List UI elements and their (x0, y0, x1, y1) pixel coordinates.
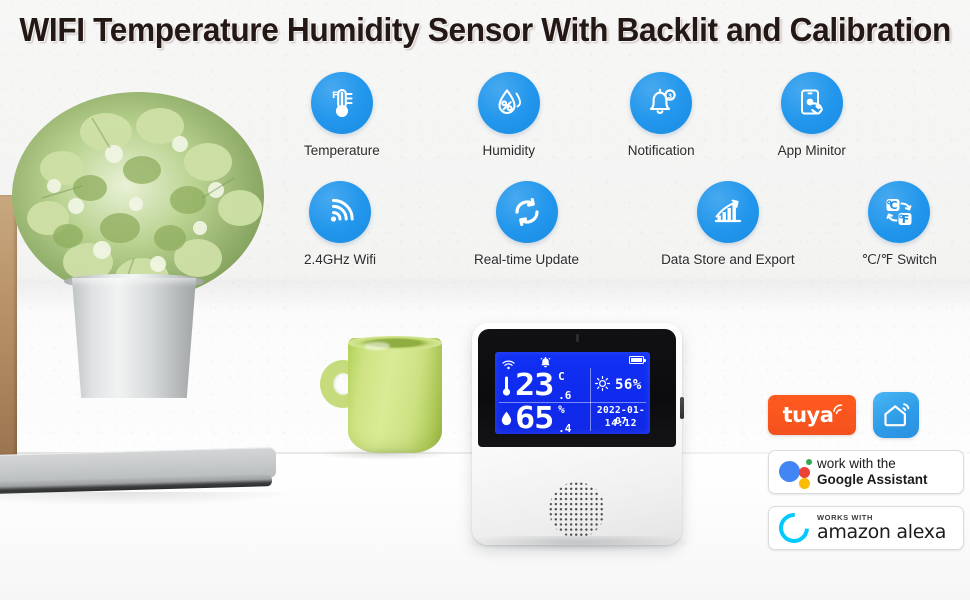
amazon-alexa-badge[interactable]: WORKS WITH amazon alexa (768, 506, 964, 550)
bar-chart-growth-icon (697, 181, 759, 243)
lcd-temperature-cell: 23 C .6 (499, 369, 589, 402)
alexa-badge-line1: WORKS WITH (817, 514, 946, 522)
lcd-time: 14:12 (593, 418, 649, 429)
potted-green-plant (2, 78, 292, 468)
lcd-light-cell: 56% (595, 370, 647, 400)
lcd-humidity-unit-stack: % .4 (558, 404, 571, 434)
mug-body (348, 338, 442, 453)
mug-shadow (318, 448, 450, 460)
refresh-sync-icon (496, 181, 558, 243)
feature-label: ℃/℉ Switch (862, 252, 937, 268)
feature-label: Real-time Update (474, 252, 579, 267)
alexa-text: WORKS WITH amazon alexa (817, 514, 946, 543)
humidity-droplet-icon (478, 72, 540, 134)
feature-row-1: F Temperature Humidity (278, 72, 938, 158)
battery-icon (629, 356, 644, 364)
feature-temperature[interactable]: F Temperature (304, 72, 380, 158)
svg-text:F: F (902, 213, 910, 226)
feature-data-store-export[interactable]: Data Store and Export (661, 181, 795, 267)
lcd-humidity-value: 65 (515, 404, 553, 434)
badge-row-platform: tuya (768, 392, 964, 438)
svg-text:3: 3 (668, 92, 672, 100)
feature-label: App Minitor (778, 143, 846, 158)
thermometer-small-icon (499, 375, 513, 397)
svg-text:F: F (332, 91, 338, 101)
google-dot-green (806, 459, 812, 465)
feature-wifi[interactable]: 2.4GHz Wifi (304, 181, 376, 267)
sun-brightness-icon (595, 376, 610, 395)
lcd-display: 23 C .6 65 % .4 56% 2022-01-07 14:12 (495, 352, 650, 434)
lcd-temperature-value: 23 (515, 371, 553, 401)
feature-humidity[interactable]: Humidity (478, 72, 540, 158)
tuya-wifi-icon (832, 403, 845, 421)
plant-pot (68, 278, 200, 398)
google-dot-yellow (799, 478, 810, 489)
droplet-small-icon (499, 411, 513, 426)
notification-bell-icon: 3 (630, 72, 692, 134)
feature-row-2: 2.4GHz Wifi Real-time Update (278, 181, 938, 268)
google-dot-blue (779, 461, 800, 482)
lcd-temperature-unit-stack: C .6 (558, 371, 571, 401)
mug-highlight (364, 342, 390, 350)
laptop-shadow (0, 492, 300, 506)
mug-rim (348, 336, 442, 350)
google-dot-red (799, 467, 810, 478)
google-badge-line1: work with the (817, 456, 896, 471)
device-side-button[interactable] (680, 397, 684, 419)
app-phone-touch-icon (781, 72, 843, 134)
feature-cf-switch[interactable]: C F ℃/℉ Switch (862, 181, 937, 268)
celsius-fahrenheit-switch-icon: C F (868, 181, 930, 243)
lcd-temperature-unit: C (558, 371, 571, 382)
device-shadow (462, 536, 694, 552)
feature-label: Notification (628, 143, 695, 158)
feature-label: Temperature (304, 143, 380, 158)
feature-label: Data Store and Export (661, 252, 795, 267)
lcd-humidity-cell: 65 % .4 (499, 403, 589, 434)
page-title: WIFI Temperature Humidity Sensor With Ba… (19, 11, 950, 49)
brand-badges: tuya work with the Google As (768, 392, 964, 550)
google-assistant-text: work with the Google Assistant (817, 456, 928, 487)
thermometer-icon: F (311, 72, 373, 134)
svg-text:C: C (890, 199, 898, 212)
wifi-signal-icon (309, 181, 371, 243)
lcd-humidity-unit: % (558, 404, 571, 415)
feature-grid: F Temperature Humidity (278, 72, 938, 268)
feature-realtime-update[interactable]: Real-time Update (474, 181, 579, 267)
google-badge-line2: Google Assistant (817, 472, 928, 487)
google-assistant-badge[interactable]: work with the Google Assistant (768, 450, 964, 494)
sensor-pinhole (576, 334, 579, 342)
feature-label: Humidity (483, 143, 536, 158)
feature-notification[interactable]: 3 Notification (628, 72, 695, 158)
smart-life-logo[interactable] (873, 392, 919, 438)
alexa-badge-line2: amazon alexa (817, 521, 946, 543)
google-assistant-icon (779, 457, 813, 487)
lcd-status-bar (495, 352, 650, 367)
alexa-row: WORKS WITH amazon alexa (779, 513, 946, 543)
lcd-light-value: 56% (615, 377, 642, 393)
alexa-ring-icon (773, 507, 815, 549)
smart-life-house-icon (881, 401, 911, 429)
lcd-vertical-divider (590, 368, 591, 431)
tuya-logo[interactable]: tuya (768, 395, 856, 435)
feature-app-monitor[interactable]: App Minitor (778, 72, 846, 158)
lcd-temperature-decimal: .6 (558, 390, 571, 401)
green-coffee-mug (320, 338, 445, 456)
lcd-humidity-decimal: .4 (558, 423, 571, 434)
feature-label: 2.4GHz Wifi (304, 252, 376, 267)
